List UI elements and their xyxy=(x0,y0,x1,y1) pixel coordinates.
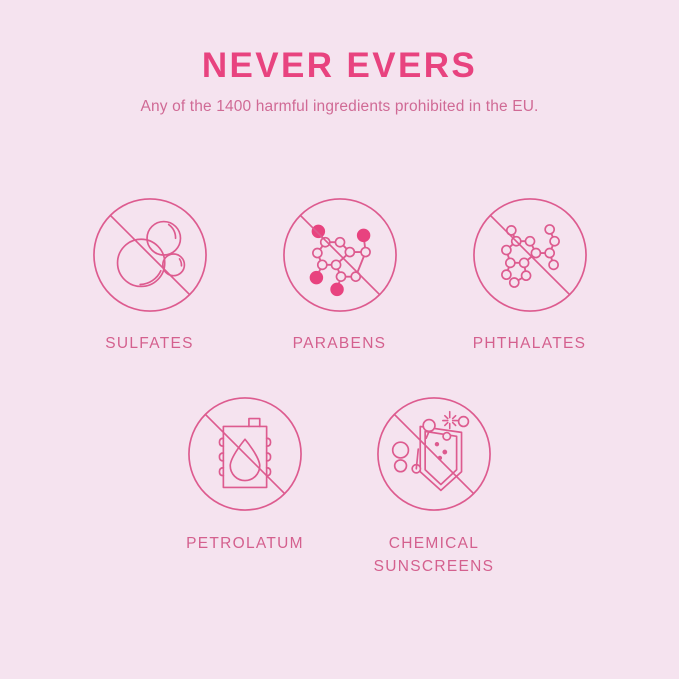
item-chemical-sunscreens: CHEMICAL SUNSCREENS xyxy=(340,395,529,578)
icon-row-bottom: PETROLATUM xyxy=(0,395,679,578)
item-sulfates: SULFATES xyxy=(55,196,245,355)
no-parabens-molecule-icon xyxy=(281,196,399,314)
page-title: NEVER EVERS xyxy=(0,44,679,88)
item-label: SULFATES xyxy=(105,332,194,355)
item-petrolatum: PETROLATUM xyxy=(151,395,340,578)
item-label: PARABENS xyxy=(293,332,387,355)
item-phthalates: PHTHALATES xyxy=(435,196,625,355)
item-parabens: PARABENS xyxy=(245,196,435,355)
header: NEVER EVERS Any of the 1400 harmful ingr… xyxy=(0,44,679,117)
item-label: PETROLATUM xyxy=(186,532,304,555)
no-sulfates-bubbles-icon xyxy=(91,196,209,314)
no-chemical-sunscreens-shield-icon xyxy=(375,395,493,513)
item-label: CHEMICAL SUNSCREENS xyxy=(374,532,495,578)
no-petrolatum-barrel-icon xyxy=(186,395,304,513)
page-subtitle: Any of the 1400 harmful ingredients proh… xyxy=(0,97,679,117)
icon-row-top: SULFATES xyxy=(0,196,679,355)
never-evers-infographic: NEVER EVERS Any of the 1400 harmful ingr… xyxy=(0,0,679,679)
item-label: PHTHALATES xyxy=(473,332,587,355)
no-phthalates-molecule-icon xyxy=(471,196,589,314)
